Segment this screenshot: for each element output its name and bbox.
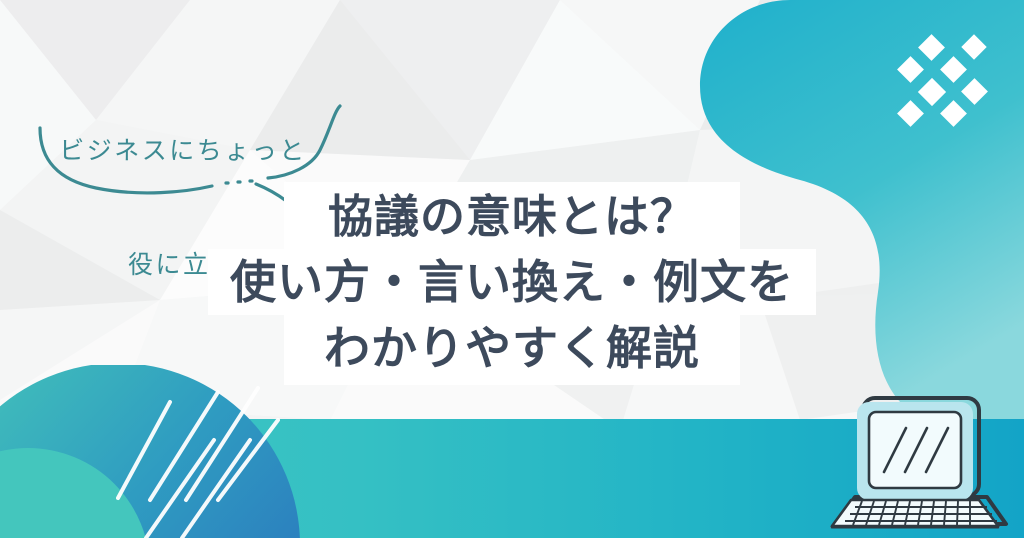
title-line-2-text: 使い方・言い換え・例文を: [208, 249, 816, 315]
title-line-1-text: 協議の意味とは？: [284, 182, 740, 249]
laptop-illustration: [830, 398, 1006, 528]
page-title: 協議の意味とは？ 使い方・言い換え・例文を わかりやすく解説: [0, 182, 1024, 385]
title-line-3-text: わかりやすく解説: [284, 315, 740, 385]
title-line-3: わかりやすく解説: [0, 315, 1024, 385]
eyecatch-banner: ビジネスにちょっと 役に立つ 協議の意味とは？ 使い方・言い換え・例文を わかり…: [0, 0, 1024, 538]
title-line-1: 協議の意味とは？: [0, 182, 1024, 249]
title-line-2: 使い方・言い換え・例文を: [0, 249, 1024, 315]
